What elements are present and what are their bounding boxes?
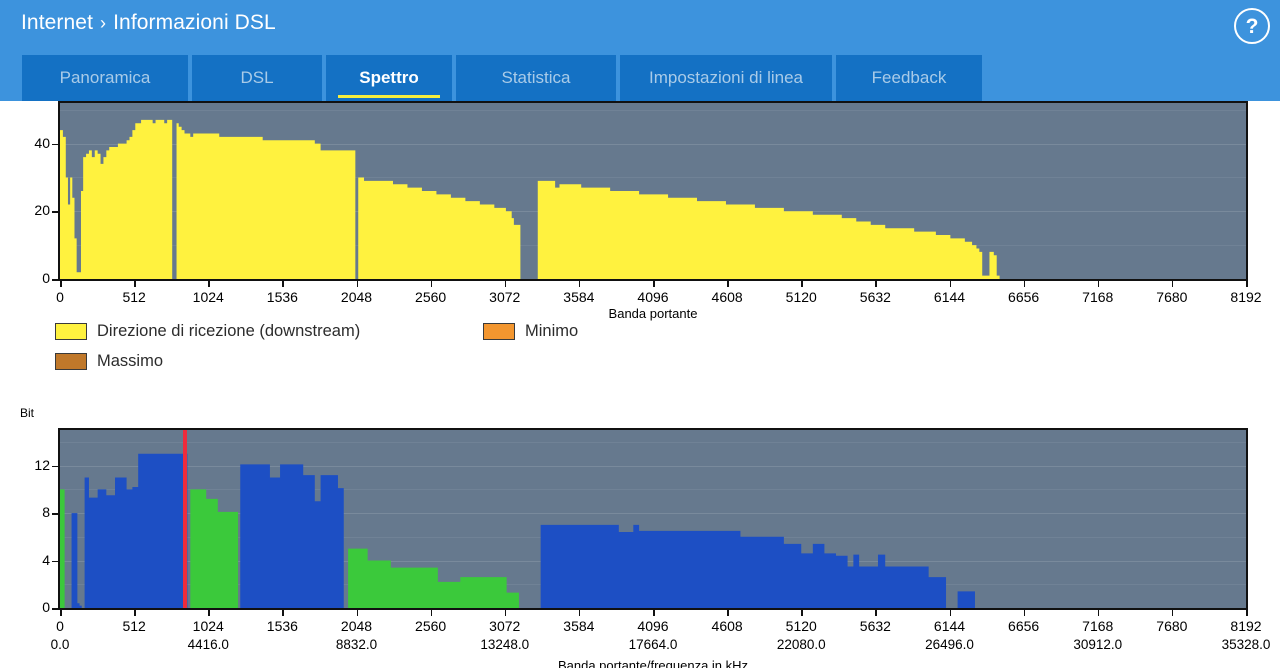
x-axis-tick-label: 4608 — [712, 289, 743, 305]
series-area — [541, 525, 975, 608]
tab-dsl[interactable]: DSL — [192, 55, 322, 101]
y-axis-tick-label: 8 — [12, 504, 50, 520]
y-axis-tick-mark — [52, 466, 58, 468]
y-axis-tick-label: 0 — [12, 599, 50, 615]
tab-panoramica[interactable]: Panoramica — [22, 55, 188, 101]
tab-statistica[interactable]: Statistica — [456, 55, 616, 101]
legend-item: Massimo — [55, 352, 163, 371]
x-axis-tick-label: 1024 — [193, 618, 224, 634]
tab-label: DSL — [240, 68, 273, 88]
x-axis-tick-label: 3584 — [563, 289, 594, 305]
x-axis-tick-label: 1536 — [267, 618, 298, 634]
x-axis-tick-label: 7680 — [1156, 289, 1187, 305]
tab-bar: PanoramicaDSLSpettroStatisticaImpostazio… — [0, 53, 1280, 101]
x-axis-tick-label: 8192 — [1230, 289, 1261, 305]
x-axis-tick-mark — [1098, 281, 1100, 287]
x-axis-tick-mark — [134, 610, 136, 616]
x-axis-title: Banda portante — [609, 306, 698, 321]
series-area — [348, 549, 519, 608]
tab-impostazioni-di-linea[interactable]: Impostazioni di linea — [620, 55, 832, 101]
x-axis-tick-mark — [653, 281, 655, 287]
x-axis-tick-mark — [208, 281, 210, 287]
x-axis-tick-mark — [579, 281, 581, 287]
x-axis-tick-label: 6144 — [934, 289, 965, 305]
legend-item: Direzione di ricezione (downstream) — [55, 322, 360, 341]
x-axis-tick-label: 512 — [122, 289, 145, 305]
x-axis-tick-mark — [208, 610, 210, 616]
y-axis-tick-label: 20 — [12, 202, 50, 218]
x-axis-tick-label: 6656 — [1008, 289, 1039, 305]
x-axis-tick-mark — [60, 610, 62, 616]
series-area — [60, 120, 1016, 279]
y-axis-tick-mark — [52, 144, 58, 146]
x-axis-tick-label: 4096 — [637, 618, 668, 634]
x-axis-tick-label: 5120 — [786, 618, 817, 634]
x-axis-tick-label: 0 — [56, 289, 64, 305]
x-axis-tick-label: 3584 — [563, 618, 594, 634]
x-axis-tick-sublabel: 17664.0 — [629, 637, 678, 652]
y-axis-tick-mark — [52, 211, 58, 213]
x-axis-tick-sublabel: 26496.0 — [925, 637, 974, 652]
x-axis-tick-sublabel: 30912.0 — [1073, 637, 1122, 652]
app-header: Internet›Informazioni DSL ? — [0, 0, 1280, 53]
plot-area — [58, 428, 1248, 610]
x-axis-tick-label: 0 — [56, 618, 64, 634]
legend-item: Minimo — [483, 322, 578, 341]
legend-label: Minimo — [525, 322, 578, 341]
x-axis-tick-mark — [1098, 610, 1100, 616]
x-axis-tick-mark — [1172, 610, 1174, 616]
x-axis-tick-label: 6144 — [934, 618, 965, 634]
series-group — [60, 103, 1246, 279]
x-axis-tick-label: 3072 — [489, 289, 520, 305]
x-axis-tick-label: 3072 — [489, 618, 520, 634]
x-axis-tick-mark — [431, 610, 433, 616]
x-axis-tick-mark — [653, 610, 655, 616]
x-axis-tick-label: 4608 — [712, 618, 743, 634]
x-axis-tick-mark — [579, 610, 581, 616]
x-axis-tick-label: 1024 — [193, 289, 224, 305]
plot-area — [58, 101, 1248, 281]
x-axis-tick-label: 8192 — [1230, 618, 1261, 634]
y-axis-tick-mark — [52, 561, 58, 563]
x-axis-tick-mark — [1024, 610, 1026, 616]
tab-label: Feedback — [872, 68, 947, 88]
x-axis-tick-mark — [950, 610, 952, 616]
x-axis-tick-mark — [1024, 281, 1026, 287]
chart-bitload-spectrum: Bit0481200.051210244416.0153620488832.02… — [0, 428, 1280, 668]
legend-label: Massimo — [97, 352, 163, 371]
tab-label: Statistica — [502, 68, 571, 88]
x-axis-tick-mark — [282, 610, 284, 616]
x-axis-tick-mark — [1246, 281, 1248, 287]
x-axis-tick-mark — [1246, 610, 1248, 616]
x-axis-tick-label: 5632 — [860, 618, 891, 634]
series-area — [65, 454, 188, 608]
tab-spettro[interactable]: Spettro — [326, 55, 452, 101]
x-axis-tick-mark — [1172, 281, 1174, 287]
x-axis-tick-label: 7680 — [1156, 618, 1187, 634]
x-axis-tick-label: 5120 — [786, 289, 817, 305]
x-axis-tick-mark — [134, 281, 136, 287]
x-axis-tick-mark — [357, 281, 359, 287]
x-axis-tick-sublabel: 4416.0 — [188, 637, 229, 652]
x-axis-tick-sublabel: 35328.0 — [1222, 637, 1271, 652]
tab-label: Impostazioni di linea — [649, 68, 803, 88]
x-axis-tick-label: 7168 — [1082, 289, 1113, 305]
x-axis-tick-label: 5632 — [860, 289, 891, 305]
x-axis-title: Banda portante/frequenza in kHz — [558, 658, 748, 668]
legend-swatch — [483, 323, 515, 340]
x-axis-tick-label: 2560 — [415, 289, 446, 305]
legend-swatch — [55, 323, 87, 340]
x-axis-tick-label: 4096 — [637, 289, 668, 305]
x-axis-tick-mark — [431, 281, 433, 287]
x-axis-tick-mark — [282, 281, 284, 287]
y-axis-title: Bit — [20, 406, 34, 420]
x-axis-tick-mark — [801, 610, 803, 616]
x-axis-tick-mark — [357, 610, 359, 616]
x-axis-tick-sublabel: 8832.0 — [336, 637, 377, 652]
x-axis-tick-mark — [727, 281, 729, 287]
series-area — [240, 464, 344, 608]
marker-line — [183, 430, 187, 608]
x-axis-tick-mark — [801, 281, 803, 287]
y-axis-tick-mark — [52, 513, 58, 515]
help-icon[interactable]: ? — [1234, 8, 1270, 44]
y-axis-tick-mark — [52, 279, 58, 281]
series-group — [60, 430, 1246, 608]
y-axis-tick-label: 12 — [12, 457, 50, 473]
legend-swatch — [55, 353, 87, 370]
x-axis-tick-mark — [875, 610, 877, 616]
x-axis-tick-sublabel: 0.0 — [51, 637, 70, 652]
series-area — [60, 489, 65, 608]
series-area — [190, 489, 238, 608]
x-axis-tick-sublabel: 22080.0 — [777, 637, 826, 652]
x-axis-tick-label: 512 — [122, 618, 145, 634]
legend-label: Direzione di ricezione (downstream) — [97, 322, 360, 341]
x-axis-tick-label: 1536 — [267, 289, 298, 305]
breadcrumb: Internet›Informazioni DSL — [21, 11, 276, 35]
y-axis-tick-label: 40 — [12, 135, 50, 151]
x-axis-tick-label: 2560 — [415, 618, 446, 634]
y-axis-tick-label: 4 — [12, 552, 50, 568]
chart-legend: Direzione di ricezione (downstream)Minim… — [0, 322, 1280, 382]
breadcrumb-current: Informazioni DSL — [113, 11, 276, 34]
x-axis-tick-label: 7168 — [1082, 618, 1113, 634]
tab-label: Spettro — [359, 68, 419, 88]
chevron-right-icon: › — [100, 13, 106, 33]
x-axis-tick-mark — [505, 610, 507, 616]
x-axis-tick-mark — [950, 281, 952, 287]
x-axis-tick-label: 2048 — [341, 289, 372, 305]
tab-label: Panoramica — [60, 68, 151, 88]
x-axis-tick-mark — [727, 610, 729, 616]
x-axis-tick-mark — [875, 281, 877, 287]
tab-feedback[interactable]: Feedback — [836, 55, 982, 101]
x-axis-tick-mark — [505, 281, 507, 287]
breadcrumb-root[interactable]: Internet — [21, 11, 93, 34]
x-axis-tick-label: 2048 — [341, 618, 372, 634]
y-axis-tick-mark — [52, 608, 58, 610]
x-axis-tick-label: 6656 — [1008, 618, 1039, 634]
y-axis-tick-label: 0 — [12, 270, 50, 286]
x-axis-tick-mark — [60, 281, 62, 287]
x-axis-tick-sublabel: 13248.0 — [480, 637, 529, 652]
